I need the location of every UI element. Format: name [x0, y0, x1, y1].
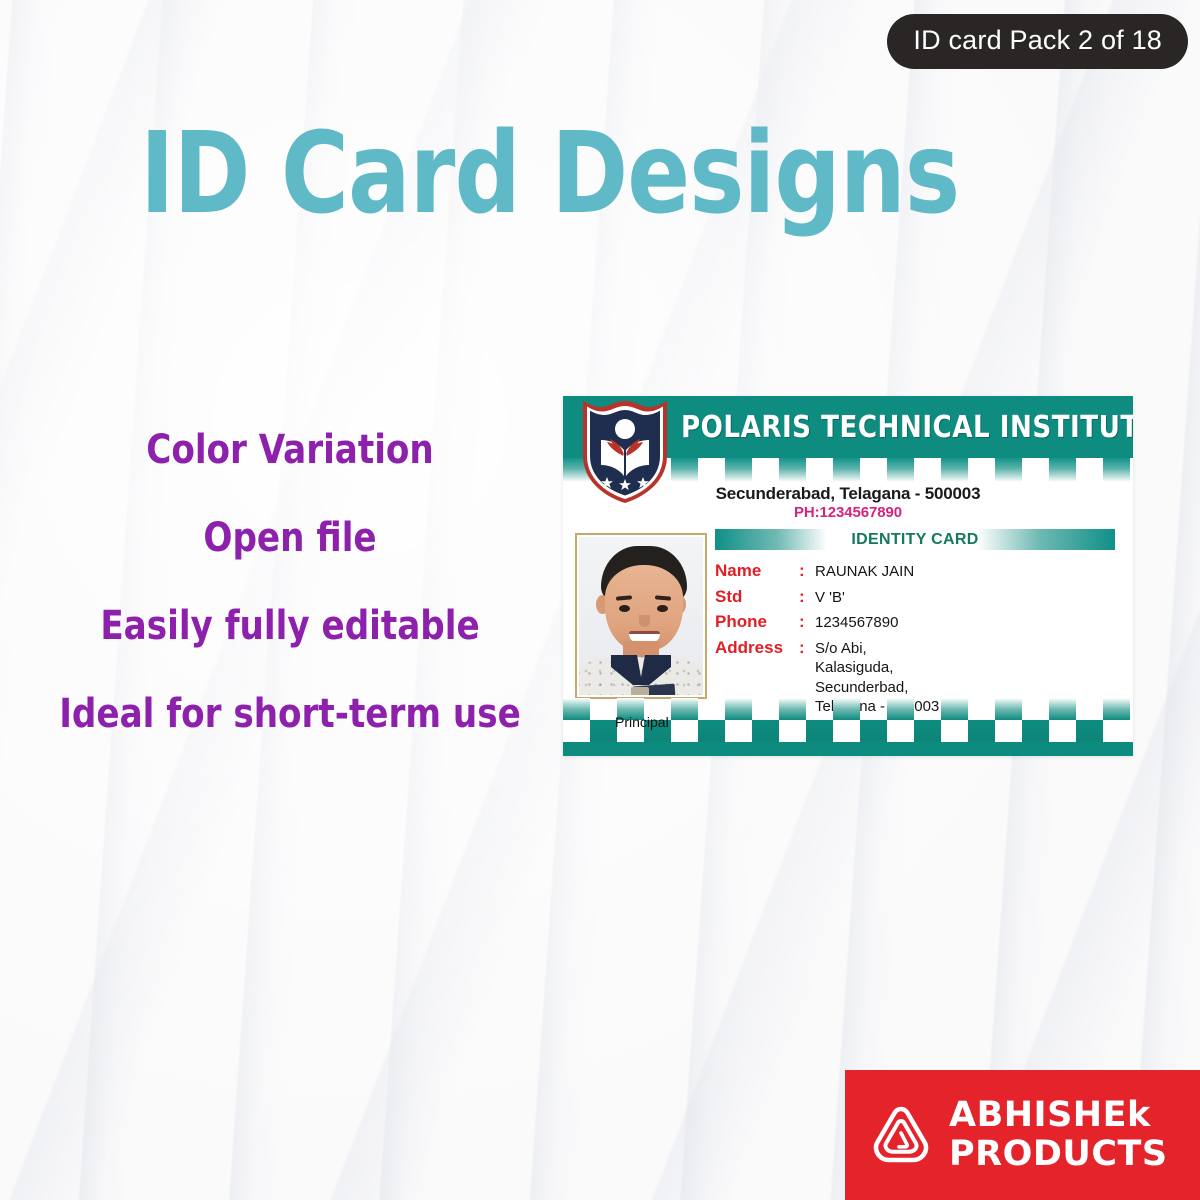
- detail-separator: :: [799, 638, 815, 658]
- feature-item: Open file: [15, 518, 566, 558]
- abhishek-triangle-logo-icon: [869, 1103, 933, 1167]
- detail-row-std: Std : V 'B': [715, 587, 1125, 608]
- brand-text: ABHISHEk PRODUCTS: [949, 1098, 1168, 1172]
- institute-name: POLARIS TECHNICAL INSTITUTE: [681, 410, 1112, 445]
- feature-list: Color Variation Open file Easily fully e…: [0, 430, 580, 734]
- detail-label: Address: [715, 638, 799, 658]
- detail-value: RAUNAK JAIN: [815, 561, 914, 582]
- photo-nose: [639, 615, 650, 627]
- detail-separator: :: [799, 612, 815, 632]
- detail-row-name: Name : RAUNAK JAIN: [715, 561, 1125, 582]
- institute-shield-logo-icon: [577, 398, 673, 506]
- detail-label: Phone: [715, 612, 799, 632]
- brand-name: ABHISHEk: [949, 1098, 1168, 1133]
- footer-accent-bar: [563, 742, 1133, 756]
- institute-phone: PH:1234567890: [563, 504, 1133, 522]
- photo-brow-left: [616, 595, 632, 600]
- photo-eye-right: [657, 605, 668, 612]
- card-footer: Principal: [563, 698, 1133, 756]
- card-body: IDENTITY CARD Name : RAUNAK JAIN Std : V…: [563, 527, 1133, 717]
- detail-row-phone: Phone : 1234567890: [715, 612, 1125, 633]
- feature-item: Color Variation: [15, 430, 566, 470]
- feature-item: Ideal for short-term use: [15, 694, 566, 734]
- student-photo-frame: [575, 533, 707, 699]
- photo-shirt-badge: [631, 687, 649, 695]
- pack-badge-label: ID card Pack 2 of 18: [913, 25, 1162, 55]
- id-card-preview: POLARIS TECHNICAL INSTITUTE: [563, 396, 1133, 756]
- brand-logo-block: ABHISHEk PRODUCTS: [845, 1070, 1200, 1200]
- poster-canvas: ID card Pack 2 of 18 ID Card Designs Col…: [0, 0, 1200, 1200]
- detail-label: Std: [715, 587, 799, 607]
- signature-label: Principal: [615, 714, 669, 730]
- detail-value: 1234567890: [815, 612, 898, 633]
- identity-card-banner: IDENTITY CARD: [715, 529, 1115, 550]
- feature-item: Easily fully editable: [15, 606, 566, 646]
- pack-badge: ID card Pack 2 of 18: [887, 14, 1188, 69]
- photo-brow-right: [655, 595, 671, 600]
- student-photo: [579, 537, 703, 695]
- photo-face: [605, 565, 683, 651]
- photo-eye-left: [619, 605, 630, 612]
- detail-label: Name: [715, 561, 799, 581]
- detail-separator: :: [799, 587, 815, 607]
- page-title: ID Card Designs: [140, 118, 959, 230]
- identity-card-label: IDENTITY CARD: [715, 531, 1115, 549]
- detail-separator: :: [799, 561, 815, 581]
- detail-value: V 'B': [815, 587, 845, 608]
- brand-subtitle: PRODUCTS: [949, 1137, 1168, 1172]
